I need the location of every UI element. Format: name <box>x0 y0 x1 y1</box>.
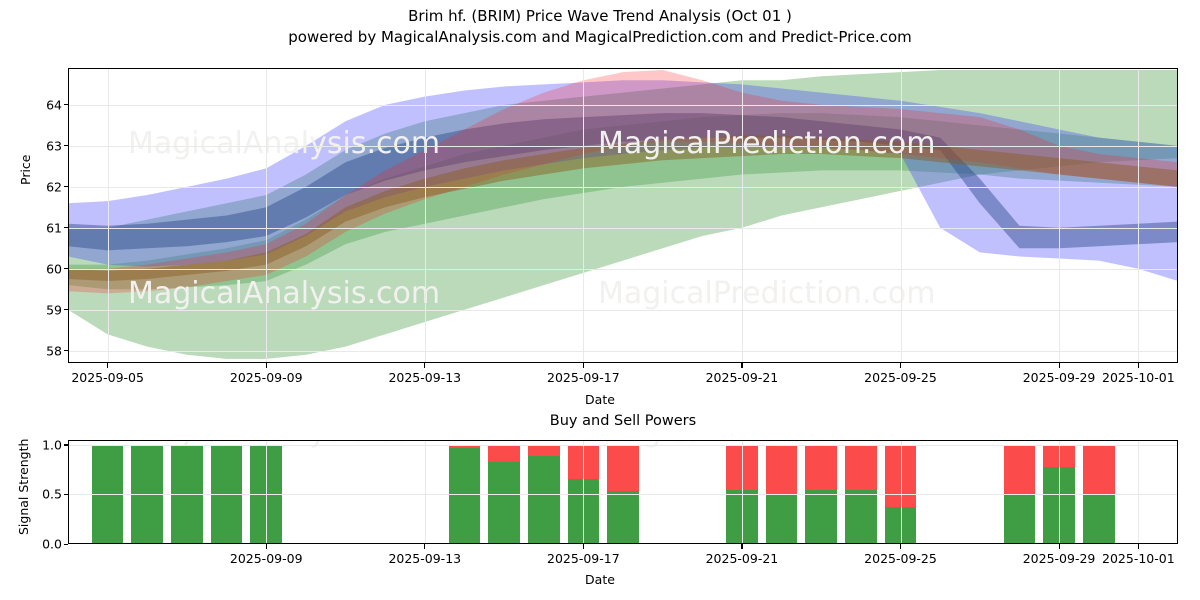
price-y-tick-label: 63 <box>46 138 62 153</box>
price-x-tick-label: 2025-10-01 <box>1102 370 1175 385</box>
price-chart-axes: MagicalPrediction.comMagicalAnalysis.com… <box>68 68 1178 363</box>
price-y-tick-label: 59 <box>46 302 62 317</box>
signal-chart-axes: Buy and Sell Powers MagicalAnalysis.comM… <box>68 440 1178 544</box>
signal-x-tick-mark <box>1059 544 1060 549</box>
price-x-tick-mark <box>107 363 108 368</box>
signal-x-tick-mark <box>741 544 742 549</box>
signal-chart-title: Buy and Sell Powers <box>68 413 1178 429</box>
price-y-tick-label: 64 <box>46 97 62 112</box>
price-x-tick-label: 2025-09-17 <box>547 370 620 385</box>
price-x-tick-label: 2025-09-29 <box>1023 370 1096 385</box>
price-x-tick-mark <box>583 363 584 368</box>
price-y-tick-mark <box>64 268 69 269</box>
price-chart-frame <box>68 68 1178 363</box>
price-x-tick-mark <box>1138 363 1139 368</box>
price-x-tick-label: 2025-09-25 <box>864 370 937 385</box>
price-y-tick-label: 62 <box>46 179 62 194</box>
price-x-tick-label: 2025-09-13 <box>388 370 461 385</box>
signal-chart-frame <box>68 440 1178 544</box>
signal-y-tick-label: 0.5 <box>42 487 62 502</box>
title-block: Brim hf. (BRIM) Price Wave Trend Analysi… <box>0 6 1200 48</box>
signal-x-tick-label: 2025-10-01 <box>1102 551 1175 566</box>
signal-y-axis-label: Signal Strength <box>16 439 31 535</box>
signal-y-tick-label: 1.0 <box>42 437 62 452</box>
price-y-tick-mark <box>64 227 69 228</box>
signal-x-tick-mark <box>1138 544 1139 549</box>
price-y-tick-label: 61 <box>46 220 62 235</box>
price-y-tick-label: 60 <box>46 261 62 276</box>
signal-x-tick-mark <box>266 544 267 549</box>
signal-x-tick-mark <box>583 544 584 549</box>
price-x-tick-label: 2025-09-09 <box>230 370 303 385</box>
signal-y-tick-mark <box>64 494 69 495</box>
price-x-tick-mark <box>741 363 742 368</box>
page-title: Brim hf. (BRIM) Price Wave Trend Analysi… <box>0 6 1200 27</box>
signal-y-tick-mark <box>64 544 69 545</box>
price-x-tick-label: 2025-09-05 <box>71 370 144 385</box>
price-y-tick-mark <box>64 145 69 146</box>
signal-x-tick-label: 2025-09-21 <box>706 551 779 566</box>
signal-y-tick-label: 0.0 <box>42 537 62 552</box>
price-y-tick-mark <box>64 104 69 105</box>
signal-x-tick-mark <box>900 544 901 549</box>
page-subtitle: powered by MagicalAnalysis.com and Magic… <box>0 27 1200 48</box>
price-x-tick-mark <box>900 363 901 368</box>
signal-x-tick-label: 2025-09-29 <box>1023 551 1096 566</box>
signal-x-tick-mark <box>424 544 425 549</box>
price-x-tick-label: 2025-09-21 <box>706 370 779 385</box>
price-x-tick-mark <box>424 363 425 368</box>
price-y-tick-label: 58 <box>46 343 62 358</box>
price-x-tick-mark <box>1059 363 1060 368</box>
price-y-tick-mark <box>64 350 69 351</box>
signal-y-tick-mark <box>64 444 69 445</box>
price-x-axis-label: Date <box>0 392 1200 407</box>
chart-page: Brim hf. (BRIM) Price Wave Trend Analysi… <box>0 0 1200 600</box>
price-y-axis-label: Price <box>18 155 33 186</box>
signal-x-tick-label: 2025-09-25 <box>864 551 937 566</box>
price-y-tick-mark <box>64 186 69 187</box>
price-y-tick-mark <box>64 309 69 310</box>
signal-x-tick-label: 2025-09-13 <box>388 551 461 566</box>
price-x-tick-mark <box>266 363 267 368</box>
signal-x-tick-label: 2025-09-09 <box>230 551 303 566</box>
signal-x-axis-label: Date <box>0 572 1200 587</box>
signal-x-tick-label: 2025-09-17 <box>547 551 620 566</box>
